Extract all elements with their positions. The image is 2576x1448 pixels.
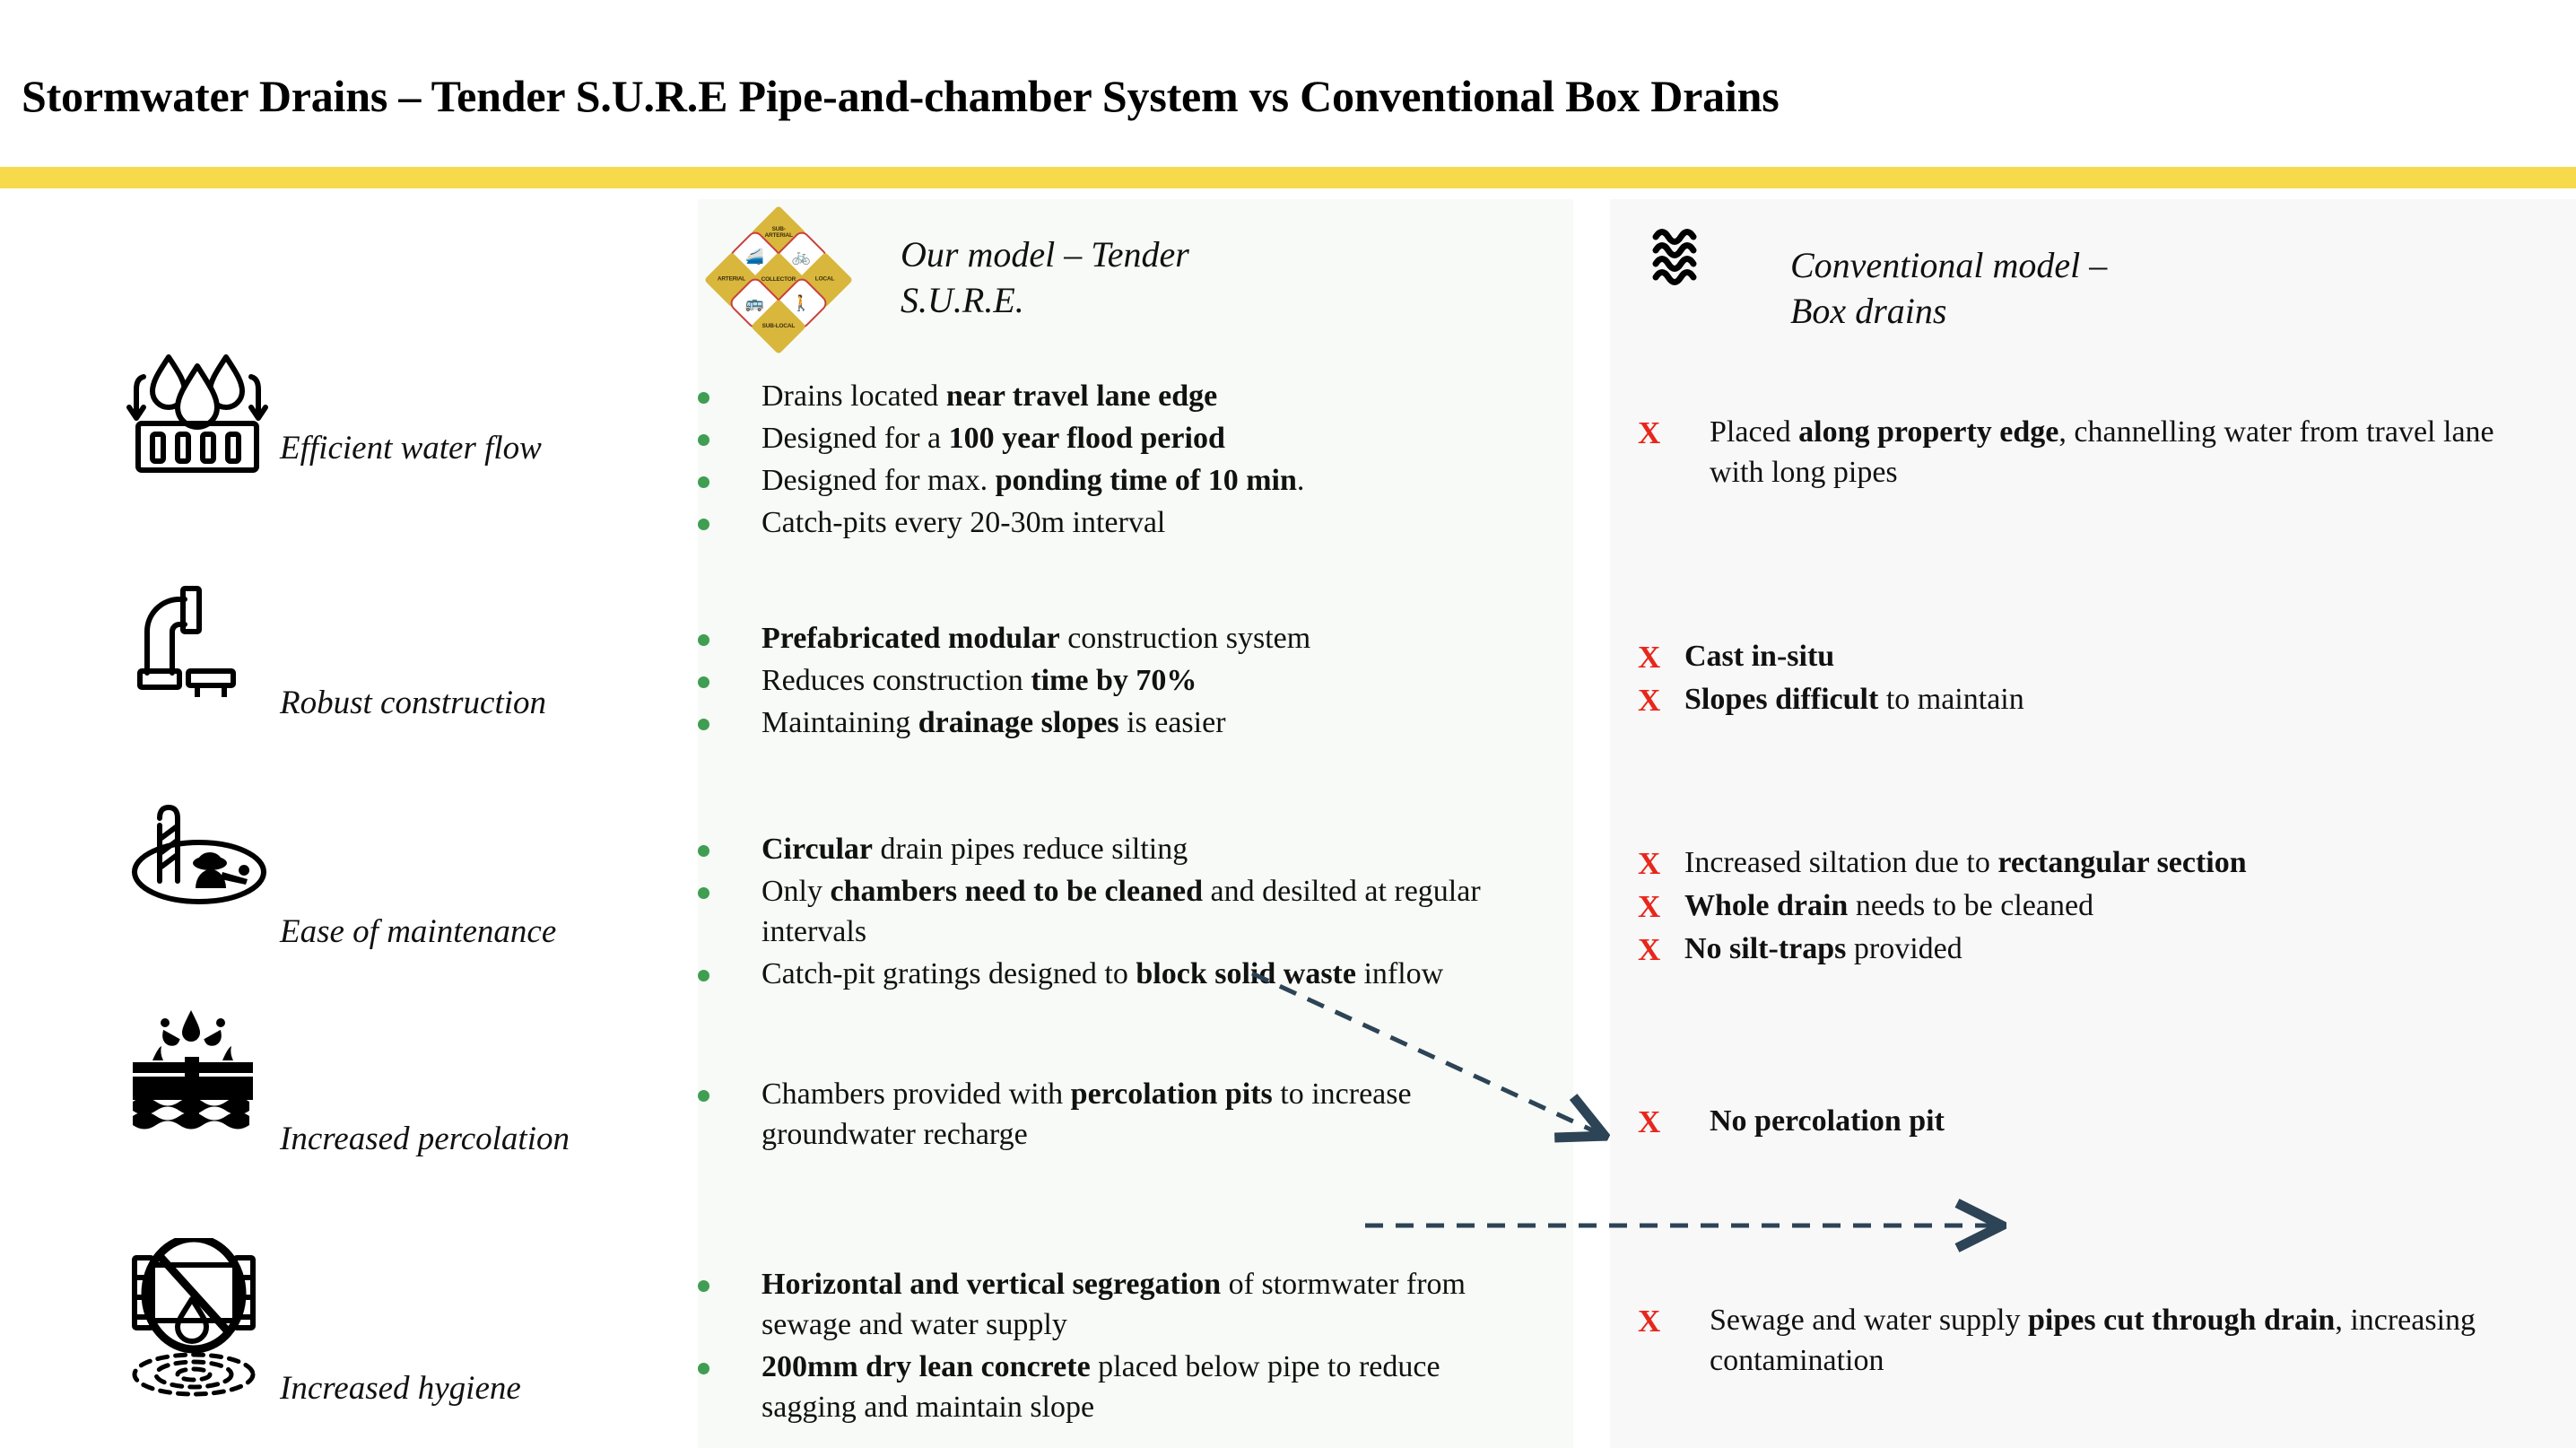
list-item: Prefabricated modular construction syste… bbox=[698, 619, 1559, 659]
list-item: X Increased siltation due to rectangular… bbox=[1638, 843, 2576, 885]
cross-text: Whole drain needs to be cleaned bbox=[1684, 886, 2093, 927]
list-item: Maintaining drainage slopes is easier bbox=[698, 703, 1559, 744]
bullet-text: Maintaining drainage slopes is easier bbox=[761, 703, 1226, 744]
feature-label-increased-hygiene: Increased hygiene bbox=[280, 1369, 521, 1408]
cross-mark-icon: X bbox=[1638, 637, 1658, 678]
groundwater-recharge-icon bbox=[126, 1005, 260, 1135]
list-item: X No percolation pit bbox=[1638, 1102, 2576, 1143]
cross-text: Slopes difficult to maintain bbox=[1684, 680, 2024, 720]
accent-bar bbox=[0, 167, 2576, 188]
list-item: Designed for a 100 year flood period bbox=[698, 419, 1559, 459]
bullet-dot-icon bbox=[698, 719, 709, 730]
conventional-model-panel bbox=[1610, 199, 2576, 1448]
logo-label-bottom: SUB-LOCAL bbox=[762, 324, 795, 330]
page-title: Stormwater Drains – Tender S.U.R.E Pipe-… bbox=[22, 70, 1780, 122]
our-bullets-ease-of-maintenance: Circular drain pipes reduce silting Only… bbox=[698, 830, 1559, 997]
list-item: X Whole drain needs to be cleaned bbox=[1638, 886, 2576, 928]
list-item: Reduces construction time by 70% bbox=[698, 661, 1559, 702]
bullet-text: Catch-pit gratings designed to block sol… bbox=[761, 955, 1443, 995]
list-item: Catch-pit gratings designed to block sol… bbox=[698, 955, 1559, 995]
list-item: X Cast in-situ bbox=[1638, 637, 2576, 678]
bullet-dot-icon bbox=[698, 476, 709, 488]
feature-label-efficient-water-flow: Efficient water flow bbox=[280, 429, 542, 467]
cross-text: No silt-traps provided bbox=[1684, 929, 1962, 970]
cross-mark-icon: X bbox=[1638, 843, 1658, 885]
feature-label-increased-percolation: Increased percolation bbox=[280, 1120, 570, 1158]
bullet-dot-icon bbox=[698, 434, 709, 446]
list-item: Circular drain pipes reduce silting bbox=[698, 830, 1559, 870]
list-item: Catch-pits every 20-30m interval bbox=[698, 503, 1559, 544]
list-item: Only chambers need to be cleaned and des… bbox=[698, 872, 1559, 953]
cross-text: No percolation pit bbox=[1710, 1102, 1945, 1142]
bullet-text: Designed for a 100 year flood period bbox=[761, 419, 1225, 459]
cross-mark-icon: X bbox=[1638, 1102, 1658, 1143]
bullet-dot-icon bbox=[698, 1363, 709, 1374]
bullet-text: Only chambers need to be cleaned and des… bbox=[761, 872, 1524, 953]
cross-text: Sewage and water supply pipes cut throug… bbox=[1710, 1301, 2517, 1382]
our-bullets-efficient-water-flow: Drains located near travel lane edge Des… bbox=[698, 377, 1559, 545]
bus-icon: 🚌 bbox=[745, 295, 764, 310]
bullet-text: Circular drain pipes reduce silting bbox=[761, 830, 1188, 870]
no-contaminated-pipe-icon bbox=[126, 1238, 265, 1404]
bullet-dot-icon bbox=[698, 887, 709, 899]
bullet-dot-icon bbox=[698, 845, 709, 857]
list-item: Drains located near travel lane edge bbox=[698, 377, 1559, 417]
feature-label-robust-construction: Robust construction bbox=[280, 684, 546, 722]
list-item: X Slopes difficult to maintain bbox=[1638, 680, 2576, 721]
our-bullets-robust-construction: Prefabricated modular construction syste… bbox=[698, 619, 1559, 746]
tender-sure-logo-icon: SUB-ARTERIAL 🚄 🚲 ARTERIAL COLLECTOR LOCA… bbox=[718, 212, 840, 334]
conventional-items-efficient-water-flow: X Placed along property edge, channellin… bbox=[1638, 413, 2576, 495]
bullet-text: Prefabricated modular construction syste… bbox=[761, 619, 1310, 659]
bullet-dot-icon bbox=[698, 1090, 709, 1102]
conventional-model-header: Conventional model – Box drains bbox=[1650, 222, 2167, 334]
conventional-items-increased-percolation: X No percolation pit bbox=[1638, 1102, 2576, 1145]
list-item: X Sewage and water supply pipes cut thro… bbox=[1638, 1301, 2576, 1382]
list-item: 200mm dry lean concrete placed below pip… bbox=[698, 1348, 1559, 1428]
cross-mark-icon: X bbox=[1638, 1301, 1658, 1342]
bullet-text: Horizontal and vertical segregation of s… bbox=[761, 1265, 1524, 1346]
cross-mark-icon: X bbox=[1638, 413, 1658, 454]
pedestrian-icon: 🚶 bbox=[792, 295, 811, 310]
our-bullets-increased-hygiene: Horizontal and vertical segregation of s… bbox=[698, 1265, 1559, 1430]
pipe-fittings-icon bbox=[126, 567, 269, 702]
our-bullets-increased-percolation: Chambers provided with percolation pits … bbox=[698, 1075, 1559, 1157]
bullet-text: Designed for max. ponding time of 10 min… bbox=[761, 461, 1304, 502]
cross-mark-icon: X bbox=[1638, 680, 1658, 721]
slide-root: Stormwater Drains – Tender S.U.R.E Pipe-… bbox=[0, 0, 2576, 1448]
bullet-dot-icon bbox=[698, 634, 709, 646]
our-model-title: Our model – Tender S.U.R.E. bbox=[901, 231, 1197, 323]
bullet-dot-icon bbox=[698, 519, 709, 530]
list-item: X No silt-traps provided bbox=[1638, 929, 2576, 971]
list-item: Chambers provided with percolation pits … bbox=[698, 1075, 1559, 1156]
conventional-model-title: Conventional model – Box drains bbox=[1790, 242, 2167, 334]
cross-text: Increased siltation due to rectangular s… bbox=[1684, 843, 2247, 884]
bullet-text: Drains located near travel lane edge bbox=[761, 377, 1217, 417]
list-item: Horizontal and vertical segregation of s… bbox=[698, 1265, 1559, 1346]
conventional-items-robust-construction: X Cast in-situ X Slopes difficult to mai… bbox=[1638, 637, 2576, 723]
bullet-dot-icon bbox=[698, 392, 709, 404]
water-drops-into-grate-icon bbox=[126, 350, 269, 480]
cross-mark-icon: X bbox=[1638, 886, 1658, 928]
conventional-items-increased-hygiene: X Sewage and water supply pipes cut thro… bbox=[1638, 1301, 2576, 1383]
bullet-dot-icon bbox=[698, 1280, 709, 1292]
bullet-text: Reduces construction time by 70% bbox=[761, 661, 1197, 702]
logo-label-left: ARTERIAL bbox=[718, 277, 745, 283]
bicycle-icon: 🚲 bbox=[792, 249, 811, 264]
our-model-header: SUB-ARTERIAL 🚄 🚲 ARTERIAL COLLECTOR LOCA… bbox=[718, 212, 1197, 334]
bullet-text: Chambers provided with percolation pits … bbox=[761, 1075, 1524, 1156]
logo-label-right: LOCAL bbox=[815, 277, 834, 283]
list-item: X Placed along property edge, channellin… bbox=[1638, 413, 2576, 493]
list-item: Designed for max. ponding time of 10 min… bbox=[698, 461, 1559, 502]
logo-label-center: COLLECTOR bbox=[761, 277, 796, 283]
cross-text: Cast in-situ bbox=[1684, 637, 1834, 677]
cross-text: Placed along property edge, channelling … bbox=[1710, 413, 2517, 493]
bullet-text: 200mm dry lean concrete placed below pip… bbox=[761, 1348, 1524, 1428]
bullet-dot-icon bbox=[698, 970, 709, 981]
train-icon: 🚄 bbox=[745, 249, 764, 264]
feature-label-ease-of-maintenance: Ease of maintenance bbox=[280, 912, 556, 951]
cross-mark-icon: X bbox=[1638, 929, 1658, 971]
bullet-text: Catch-pits every 20-30m interval bbox=[761, 503, 1165, 544]
bullet-dot-icon bbox=[698, 676, 709, 688]
wavy-water-lines-icon bbox=[1650, 222, 1720, 297]
worker-in-manhole-icon bbox=[126, 798, 278, 915]
conventional-items-ease-of-maintenance: X Increased siltation due to rectangular… bbox=[1638, 843, 2576, 973]
